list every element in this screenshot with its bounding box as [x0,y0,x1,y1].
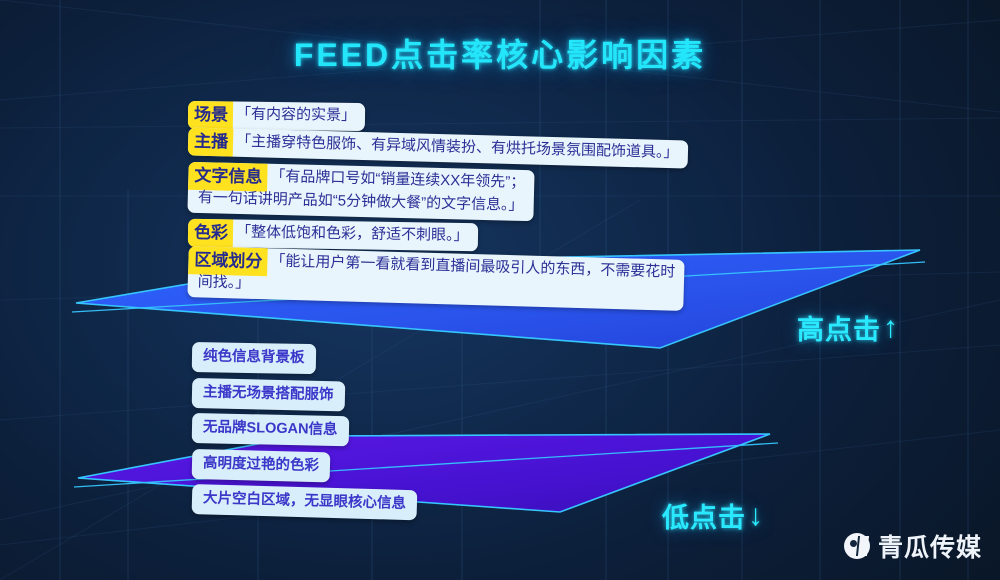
low-click-callout: 低点击 ↓ [662,496,764,535]
logo-brand-text: 青瓜传媒 [878,528,982,564]
high-panel[interactable]: 场景 「有内容的实景」 [188,101,365,131]
infographic-stage: FEED点击率核心影响因素 场景 「有内容的实景」 主播 「主播穿特色服饰、有异… [0,0,1000,580]
low-chip[interactable]: 主播无场景搭配服饰 [192,378,345,411]
high-click-panel-stack: 场景 「有内容的实景」 主播 「主播穿特色服饰、有异域风情装扮、有烘托场景氛围配… [188,102,688,304]
low-chip[interactable]: 大片空白区域，无显眼核心信息 [192,484,418,520]
low-chip[interactable]: 高明度过艳的色彩 [192,449,331,482]
high-row-tag: 主播 [188,127,234,156]
high-row: 场景 「有内容的实景」 [188,101,365,131]
high-row: 色彩 「整体低饱和色彩，舒适不刺眼。」 [188,219,478,252]
low-chip[interactable]: 纯色信息背景板 [192,342,316,374]
high-panel[interactable]: 文字信息 「有品牌口号如“销量连续XX年领先”； 有一句话讲明产品如“5分钟做大… [187,162,534,221]
high-row-text: 「有内容的实景」 [233,102,365,131]
low-click-callout-label: 低点击 [662,496,746,535]
high-row-tag: 场景 [188,101,233,130]
page-title: FEED点击率核心影响因素 [0,30,1000,76]
low-click-panel-stack: 纯色信息背景板 主播无场景搭配服饰 无品牌SLOGAN信息 高明度过艳的色彩 大… [192,342,417,514]
logo: 青瓜传媒 [844,528,982,564]
low-chip[interactable]: 无品牌SLOGAN信息 [192,413,349,446]
high-row-tag: 区域划分 [188,246,268,276]
arrow-up-icon: ↑ [883,313,899,343]
high-panel[interactable]: 主播 「主播穿特色服饰、有异域风情装扮、有烘托场景氛围配饰道具。」 [188,127,688,168]
qingua-logo-icon [844,533,870,559]
high-row-tag: 色彩 [188,219,233,248]
high-row-tag: 文字信息 [188,162,268,192]
high-row-text: 「整体低饱和色彩，舒适不刺眼。」 [233,219,478,251]
high-click-callout: 高点击 ↑ [797,308,899,347]
high-row-text-line2: 间找。」 [187,274,259,299]
high-panel[interactable]: 区域划分 「能让用户第一看就看到直播间最吸引人的东西，不需要花时 间找。」 [187,246,684,311]
high-row: 主播 「主播穿特色服饰、有异域风情装扮、有烘托场景氛围配饰道具。」 [188,127,688,168]
high-click-callout-label: 高点击 [797,308,881,347]
high-row: 区域划分 「能让用户第一看就看到直播间最吸引人的东西，不需要花时 间找。」 [187,246,684,311]
high-panel[interactable]: 色彩 「整体低饱和色彩，舒适不刺眼。」 [188,219,478,252]
high-row-text: 「能让用户第一看就看到直播间最吸引人的东西，不需要花时 [267,248,685,287]
arrow-down-icon: ↓ [748,501,764,531]
high-row-text: 「主播穿特色服饰、有异域风情装扮、有烘托场景氛围配饰道具。」 [233,129,688,169]
high-row: 文字信息 「有品牌口号如“销量连续XX年领先”； 有一句话讲明产品如“5分钟做大… [187,162,534,221]
